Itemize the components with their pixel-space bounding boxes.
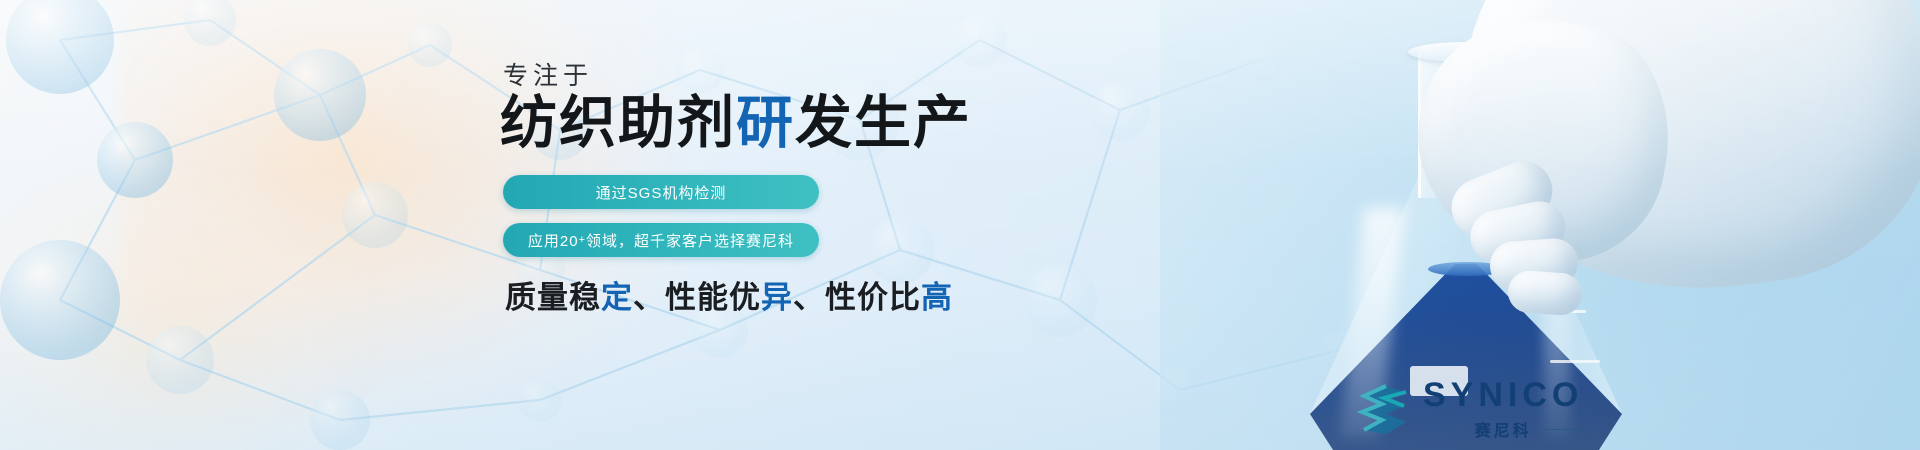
synico-cube-icon xyxy=(1352,384,1410,436)
logo-chinese-name: 赛尼科 xyxy=(1466,417,1541,441)
slogan-part-3: 、性价比 xyxy=(793,280,921,315)
badge-sgs-certification[interactable]: 通过SGS机构检测 xyxy=(503,175,819,209)
headline-accent: 研 xyxy=(736,91,795,155)
badge-fields-superscript: + xyxy=(579,234,586,246)
eyebrow-text: 专注于 xyxy=(503,56,593,92)
slogan-accent-3: 高 xyxy=(921,280,953,315)
slogan: 质量稳定、性能优异、性价比高 xyxy=(505,272,953,317)
logo-subline: 赛尼科 xyxy=(1423,417,1583,441)
headline: 纺织助剂研发生产 xyxy=(500,95,972,152)
logo-rule-right xyxy=(1541,429,1584,430)
logo-rule-left xyxy=(1423,429,1466,430)
headline-prefix: 纺织助剂 xyxy=(500,91,736,155)
badge-sgs-label: 通过SGS机构检测 xyxy=(596,182,727,203)
headline-suffix: 发生产 xyxy=(795,91,972,155)
slogan-accent-2: 异 xyxy=(761,280,793,315)
hero-banner: 专注于 纺织助剂研发生产 通过SGS机构检测 应用20+ 领域，超千家客户选择赛… xyxy=(0,0,1920,450)
badge-application-fields[interactable]: 应用20+ 领域，超千家客户选择赛尼科 xyxy=(503,223,819,257)
slogan-part-2: 、性能优 xyxy=(633,280,761,315)
badge-fields-label-a: 应用20 xyxy=(528,230,579,251)
brand-logo[interactable]: SYNICO 赛尼科 xyxy=(1352,378,1583,441)
slogan-accent-1: 定 xyxy=(601,280,633,315)
copy-block: 专注于 纺织助剂研发生产 通过SGS机构检测 应用20+ 领域，超千家客户选择赛… xyxy=(0,0,1100,450)
slogan-part-1: 质量稳 xyxy=(505,280,601,315)
badge-fields-label-b: 领域，超千家客户选择赛尼科 xyxy=(586,230,794,251)
logo-wordmark: SYNICO xyxy=(1423,378,1583,412)
logo-text-group: SYNICO 赛尼科 xyxy=(1423,378,1583,441)
